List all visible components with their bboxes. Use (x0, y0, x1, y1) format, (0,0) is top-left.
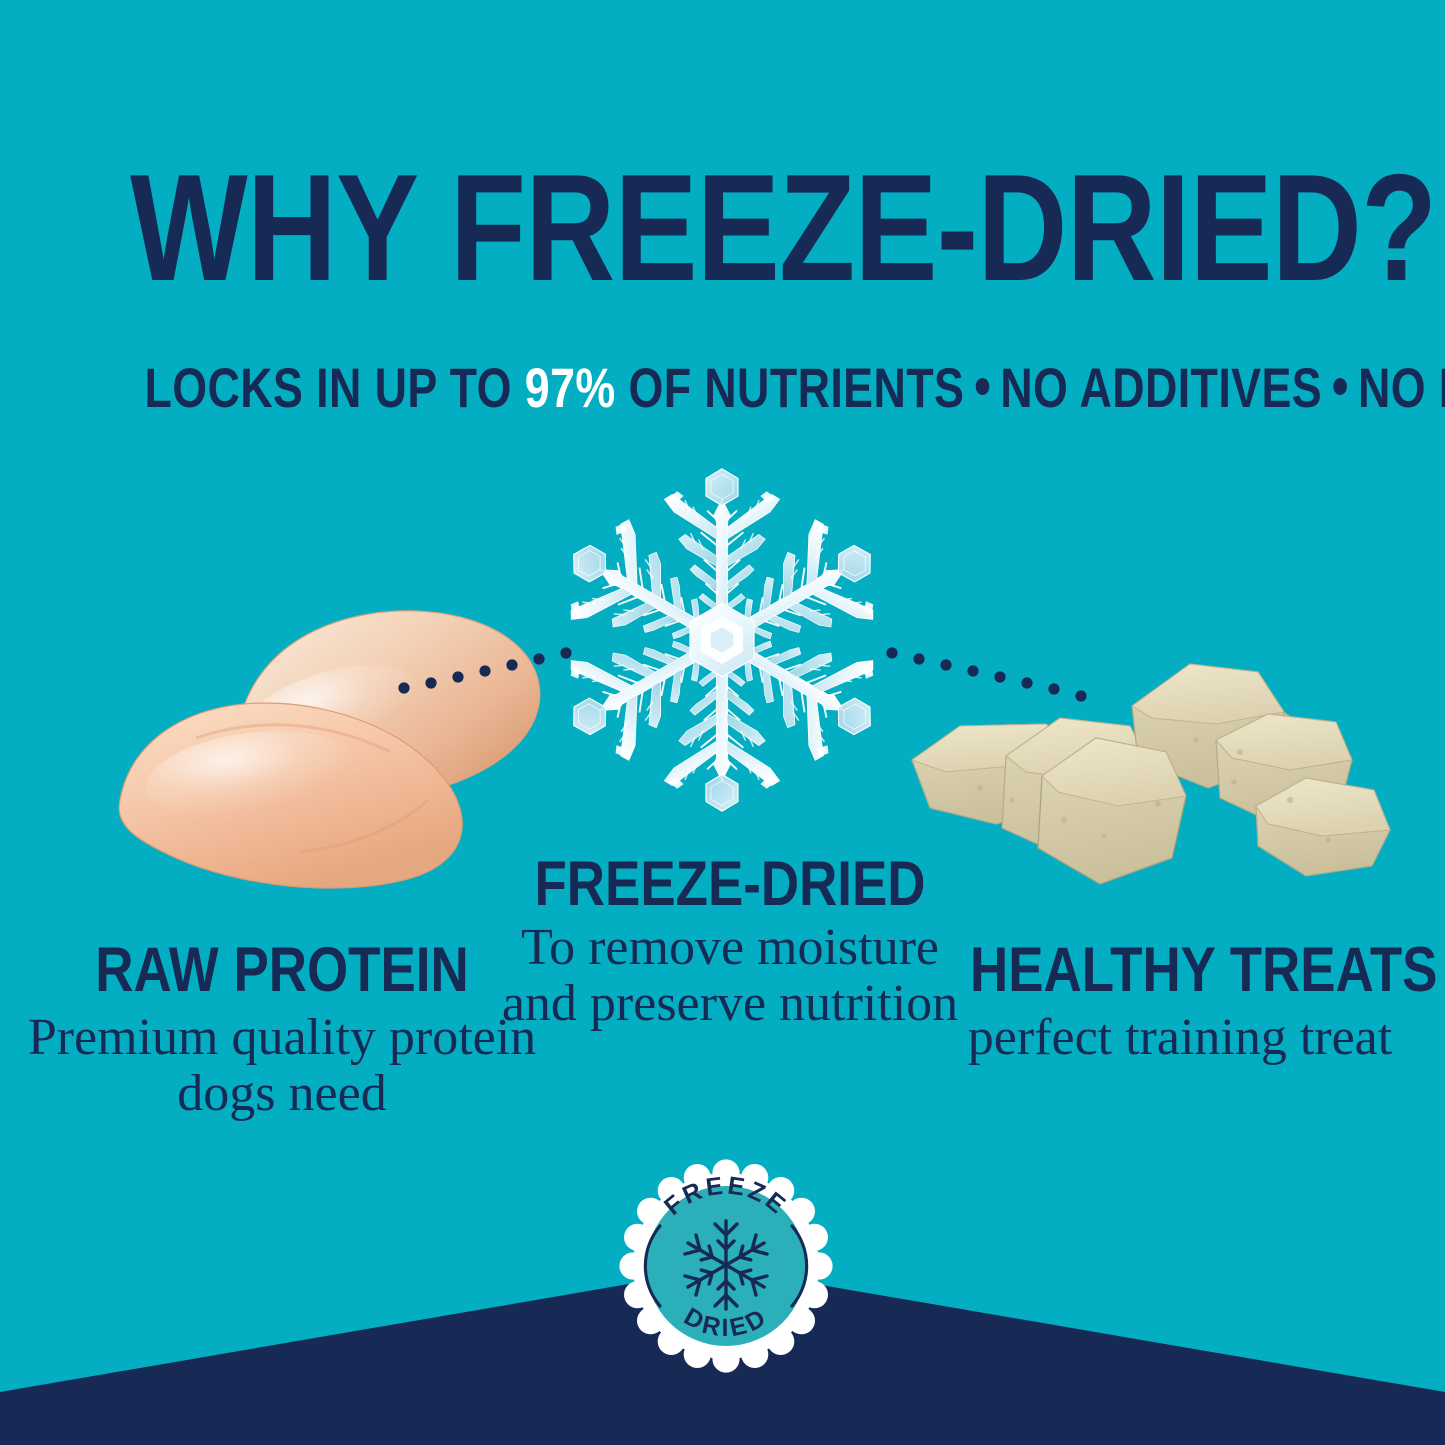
bullet-separator-icon (975, 378, 989, 395)
column-heading-healthy-treats: HEALTHY TREATS (970, 938, 1390, 1002)
column-body-raw-protein: Premium quality protein dogs need (22, 1010, 542, 1122)
dotted-connector-left (398, 647, 571, 693)
column-freeze-dried: FREEZE-DRIED To remove moisture and pres… (495, 852, 965, 1032)
snowflake-crystal-image (545, 469, 899, 811)
dotted-connector-right (886, 647, 1086, 701)
page-title: WHY FREEZE-DRIED? (130, 152, 1315, 304)
column-heading-raw-protein: RAW PROTEIN (64, 938, 501, 1002)
subtitle-no-preservatives: NO PRESERVATIVES (1358, 356, 1445, 419)
freeze-dried-badge: FREEZE DRIED (618, 1158, 834, 1374)
column-body-healthy-treats: perfect training treat (930, 1010, 1430, 1066)
freeze-dried-treats-image (912, 664, 1390, 884)
column-body-freeze-dried: To remove moisture and preserve nutritio… (495, 920, 965, 1032)
column-healthy-treats: HEALTHY TREATS perfect training treat (930, 938, 1430, 1066)
infographic-poster: WHY FREEZE-DRIED? LOCKS IN UP TO 97% OF … (0, 0, 1445, 1445)
bullet-separator-icon (1333, 378, 1347, 395)
column-heading-freeze-dried: FREEZE-DRIED (533, 852, 928, 916)
nutrient-percent-highlight: 97% (525, 356, 616, 419)
subtitle: LOCKS IN UP TO 97% OF NUTRIENTSNO ADDITI… (145, 358, 1301, 418)
subtitle-part-1: LOCKS IN UP TO (145, 356, 525, 419)
raw-chicken-image (119, 570, 560, 888)
subtitle-no-additives: NO ADDITIVES (1000, 356, 1322, 419)
column-raw-protein: RAW PROTEIN Premium quality protein dogs… (22, 938, 542, 1122)
subtitle-part-2: OF NUTRIENTS (616, 356, 965, 419)
